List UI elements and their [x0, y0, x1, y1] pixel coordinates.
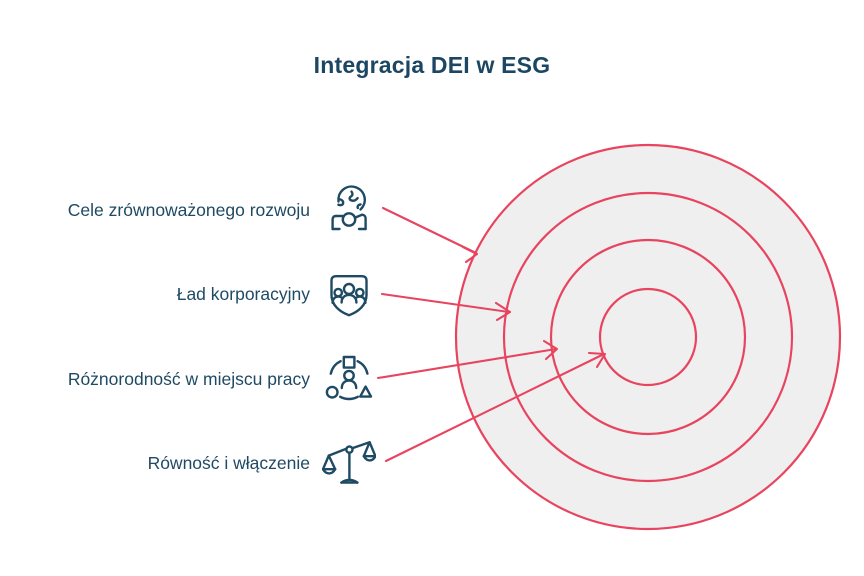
item-label-diversity: Różnorodność w miejscu pracy — [68, 371, 310, 389]
infographic-canvas: Integracja DEI w ESG — [0, 0, 864, 576]
item-label-governance: Ład korporacyjny — [177, 286, 310, 304]
arrow-to-ring-third — [378, 341, 557, 378]
item-label-sustainability: Cele zrównoważonego rozwoju — [68, 202, 310, 220]
connector-arrows — [0, 0, 864, 576]
diversity-shapes-icon — [322, 352, 376, 406]
shield-people-icon — [322, 267, 376, 321]
item-label-equity: Równość i włączenie — [148, 455, 310, 473]
arrow-to-ring-core — [386, 353, 605, 461]
globe-in-hands-icon — [322, 183, 376, 237]
arrow-to-ring-second — [382, 294, 510, 320]
balance-scale-icon — [322, 436, 376, 490]
arrow-to-ring-outer — [383, 208, 477, 262]
